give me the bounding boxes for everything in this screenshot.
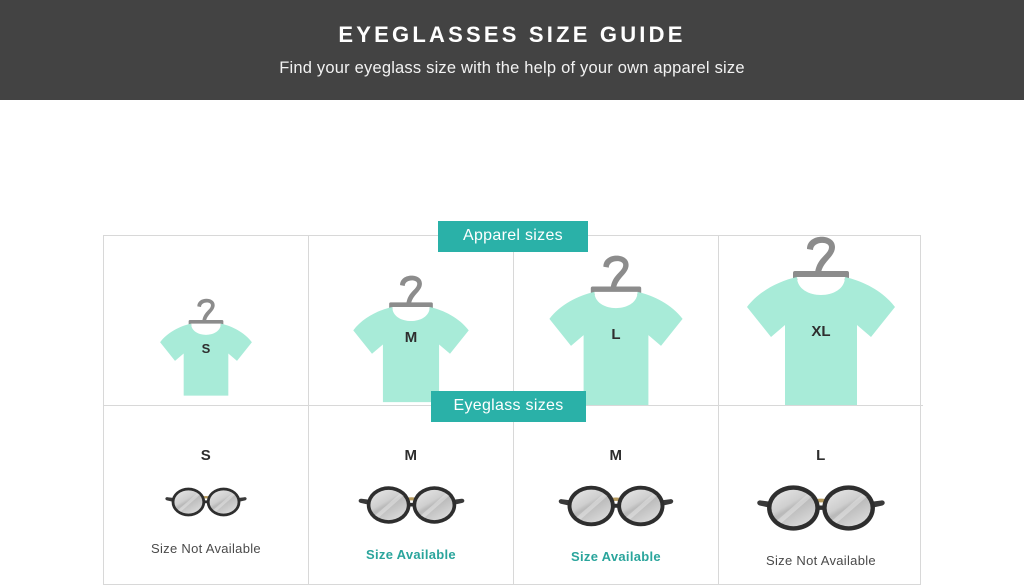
- size-guide-board: Apparel sizes Eyeglass sizes S: [0, 100, 1024, 518]
- apparel-cell-m[interactable]: M: [309, 236, 514, 406]
- tshirt-size-label-xl: XL: [811, 323, 830, 340]
- eyeglass-size-label: S: [201, 448, 212, 463]
- eyeglass-status-label: Size Not Available: [151, 542, 261, 555]
- eyeglass-cell-1[interactable]: S: [104, 406, 309, 584]
- page-title: EYEGLASSES SIZE GUIDE: [338, 24, 685, 46]
- apparel-cell-xl[interactable]: XL: [719, 236, 923, 406]
- tshirt-wrap-s: S: [104, 236, 308, 405]
- eyeglass-sizes-badge: Eyeglass sizes: [431, 391, 586, 422]
- eyeglass-status-label: Size Not Available: [766, 554, 876, 567]
- tshirt-size-label-s: S: [202, 341, 211, 356]
- tshirt-size-label-m: M: [405, 329, 418, 346]
- eyeglass-status-label: Size Available: [366, 548, 456, 561]
- apparel-cell-s[interactable]: S: [104, 236, 309, 406]
- tshirt-size-label-l: L: [611, 326, 620, 343]
- apparel-cell-l[interactable]: L: [514, 236, 719, 406]
- eyeglass-size-label: M: [610, 448, 623, 463]
- tshirt-wrap-xl: XL: [719, 236, 923, 405]
- eyeglass-cell-3[interactable]: M: [514, 406, 719, 584]
- eyeglass-size-label: M: [405, 448, 418, 463]
- tshirt-wrap-l: L: [514, 236, 718, 405]
- eyeglass-size-label: L: [816, 448, 826, 463]
- eyeglasses-icon: [151, 479, 261, 525]
- tshirt-icon: XL: [719, 235, 923, 405]
- eyeglasses-icon: [551, 479, 681, 533]
- tshirt-wrap-m: M: [309, 236, 513, 405]
- tshirt-icon: L: [514, 235, 718, 405]
- eyeglass-cell-2[interactable]: M: [309, 406, 514, 584]
- tshirt-icon: M: [309, 235, 513, 405]
- eyeglass-cell-4[interactable]: L: [719, 406, 923, 584]
- eyeglass-status-label: Size Available: [571, 550, 661, 563]
- eyeglasses-icon: [752, 479, 890, 537]
- page-subtitle: Find your eyeglass size with the help of…: [279, 60, 744, 77]
- tshirt-icon: S: [104, 235, 308, 405]
- eyeglasses-icon: [349, 479, 474, 531]
- apparel-sizes-badge: Apparel sizes: [438, 221, 588, 252]
- page-header: EYEGLASSES SIZE GUIDE Find your eyeglass…: [0, 0, 1024, 100]
